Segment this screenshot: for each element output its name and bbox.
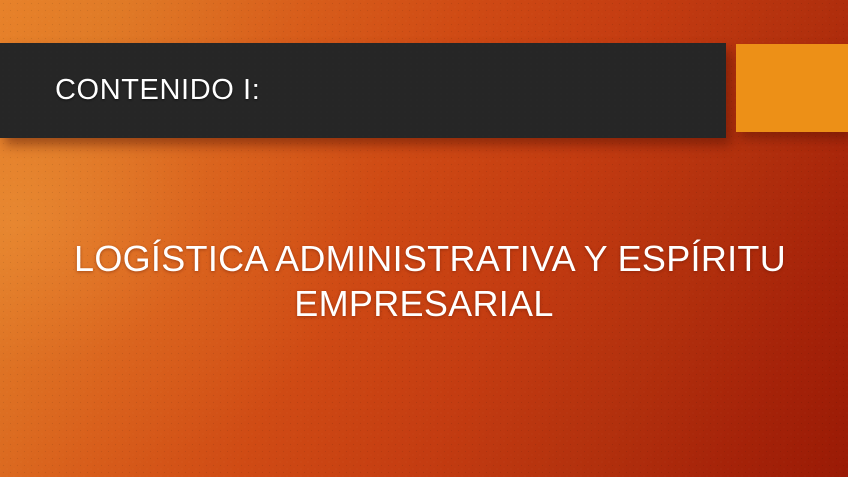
slide-header-title: CONTENIDO I: bbox=[55, 76, 260, 105]
slide-body-title: LOGÍSTICA ADMINISTRATIVA Y ESPÍRITU EMPR… bbox=[74, 236, 774, 326]
slide-body-title-line-2: EMPRESARIAL bbox=[74, 281, 774, 326]
slide-body-title-container: LOGÍSTICA ADMINISTRATIVA Y ESPÍRITU EMPR… bbox=[0, 236, 848, 326]
slide-header-bar: CONTENIDO I: bbox=[0, 43, 726, 138]
presentation-slide: CONTENIDO I: LOGÍSTICA ADMINISTRATIVA Y … bbox=[0, 0, 848, 477]
header-accent-block bbox=[736, 44, 848, 132]
slide-body-title-line-1: LOGÍSTICA ADMINISTRATIVA Y ESPÍRITU bbox=[74, 236, 774, 281]
